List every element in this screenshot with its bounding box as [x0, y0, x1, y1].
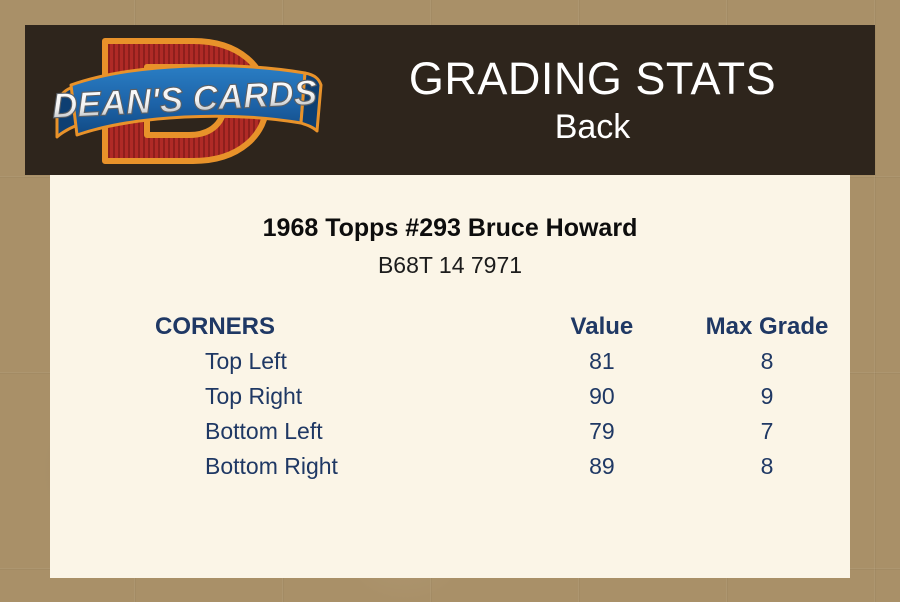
row-label: Bottom Right [50, 449, 520, 484]
row-max-grade: 8 [684, 449, 850, 484]
header-bar: DEAN'S CARDS GRADING STATS Back [25, 25, 875, 175]
row-max-grade: 8 [684, 344, 850, 379]
card-name: 1968 Topps #293 Bruce Howard [50, 213, 850, 243]
table-row: Bottom Right 89 8 [50, 449, 850, 484]
page-title: GRADING STATS [409, 53, 776, 105]
table-row: Top Left 81 8 [50, 344, 850, 379]
row-label: Top Left [50, 344, 520, 379]
card-code: B68T 14 7971 [50, 251, 850, 279]
row-value: 89 [520, 449, 684, 484]
table-header-row: CORNERS Value Max Grade [50, 309, 850, 344]
row-max-grade: 7 [684, 414, 850, 449]
column-header-value: Value [520, 309, 684, 344]
table-row: Bottom Left 79 7 [50, 414, 850, 449]
column-header-max-grade: Max Grade [684, 309, 850, 344]
logo-ribbon: DEAN'S CARDS [51, 66, 321, 137]
row-value: 81 [520, 344, 684, 379]
row-label: Top Right [50, 379, 520, 414]
row-max-grade: 9 [684, 379, 850, 414]
deans-cards-logo: DEAN'S CARDS [43, 27, 328, 173]
column-header-corners: CORNERS [50, 309, 520, 344]
content-panel: 1968 Topps #293 Bruce Howard B68T 14 797… [50, 175, 850, 578]
row-label: Bottom Left [50, 414, 520, 449]
grading-stats-table: CORNERS Value Max Grade Top Left 81 8 To… [50, 309, 850, 484]
table-row: Top Right 90 9 [50, 379, 850, 414]
page-subtitle: Back [555, 107, 631, 147]
row-value: 90 [520, 379, 684, 414]
header-title-block: GRADING STATS Back [310, 25, 875, 175]
row-value: 79 [520, 414, 684, 449]
